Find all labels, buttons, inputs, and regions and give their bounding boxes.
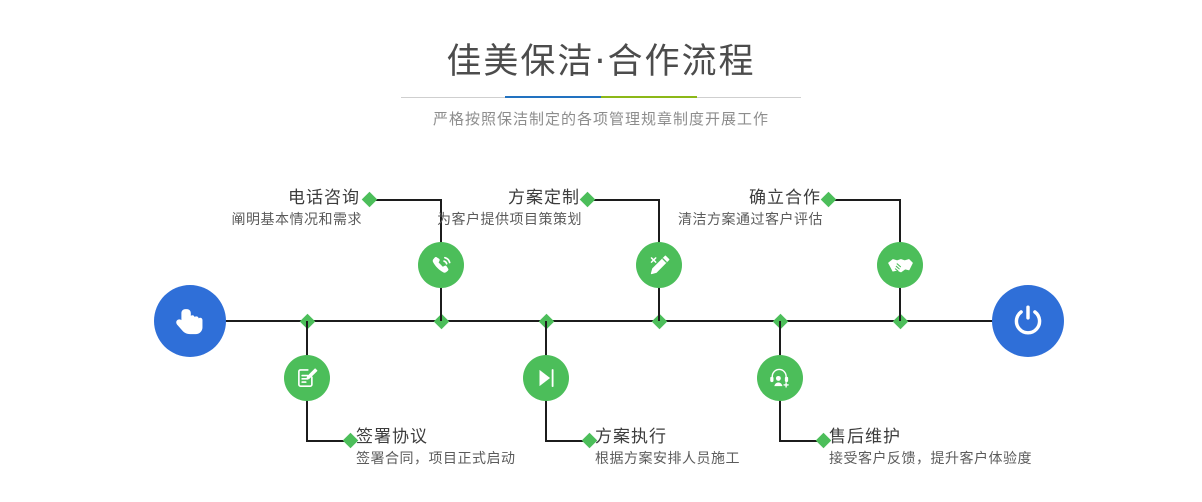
page-subtitle: 严格按照保洁制定的各项管理规章制度开展工作 — [0, 108, 1202, 130]
divider-left-gray — [401, 97, 505, 98]
power-icon — [1008, 301, 1048, 341]
step-3-icon-badge — [636, 242, 682, 288]
step-5-icon-badge — [877, 242, 923, 288]
step-3-desc: 为客户提供项目策策划 — [360, 210, 582, 231]
pointing-hand-icon — [171, 302, 209, 340]
step-2-desc: 签署合同，项目正式启动 — [356, 449, 516, 470]
handshake-icon — [887, 252, 914, 279]
step-6-desc: 接受客户反馈，提升客户体验度 — [829, 449, 1032, 470]
step-1-icon-badge — [418, 242, 464, 288]
step-4-label: 方案执行 根据方案安排人员施工 — [595, 425, 740, 470]
step-4-icon-badge — [523, 355, 569, 401]
timeline-end-node — [992, 285, 1064, 357]
step-4-desc: 根据方案安排人员施工 — [595, 449, 740, 470]
page-title: 佳美保洁·合作流程 — [0, 40, 1202, 84]
step-1-label: 电话咨询 阐明基本情况和需求 — [140, 186, 362, 231]
step-5-label-marker — [821, 192, 837, 208]
flowchart-canvas: 佳美保洁·合作流程 严格按照保洁制定的各项管理规章制度开展工作 — [0, 0, 1202, 502]
play-execute-icon — [533, 365, 559, 391]
step-5-label: 确立合作 清洁方案通过客户评估 — [601, 186, 823, 231]
title-divider — [401, 95, 801, 99]
step-6-label: 售后维护 接受客户反馈，提升客户体验度 — [829, 425, 1032, 470]
step-6-icon-badge — [757, 355, 803, 401]
step-6-title: 售后维护 — [829, 425, 1032, 449]
step-3-label-marker — [580, 192, 596, 208]
step-5-title: 确立合作 — [601, 186, 823, 210]
customer-support-icon — [767, 365, 793, 391]
step-2-icon-badge — [284, 355, 330, 401]
divider-green-segment — [601, 96, 697, 98]
step-2-label: 签署协议 签署合同，项目正式启动 — [356, 425, 516, 470]
timeline-start-node — [154, 285, 226, 357]
step-3-title: 方案定制 — [360, 186, 582, 210]
phone-call-icon — [428, 252, 455, 279]
sign-document-icon — [294, 365, 320, 391]
divider-right-gray — [697, 97, 801, 98]
step-3-label: 方案定制 为客户提供项目策策划 — [360, 186, 582, 231]
step-5-connector — [829, 199, 901, 201]
divider-blue-segment — [505, 96, 601, 98]
step-1-title: 电话咨询 — [140, 186, 362, 210]
pencil-plan-icon — [646, 252, 673, 279]
step-4-title: 方案执行 — [595, 425, 740, 449]
step-1-desc: 阐明基本情况和需求 — [140, 210, 362, 231]
step-5-desc: 清洁方案通过客户评估 — [601, 210, 823, 231]
step-2-title: 签署协议 — [356, 425, 516, 449]
